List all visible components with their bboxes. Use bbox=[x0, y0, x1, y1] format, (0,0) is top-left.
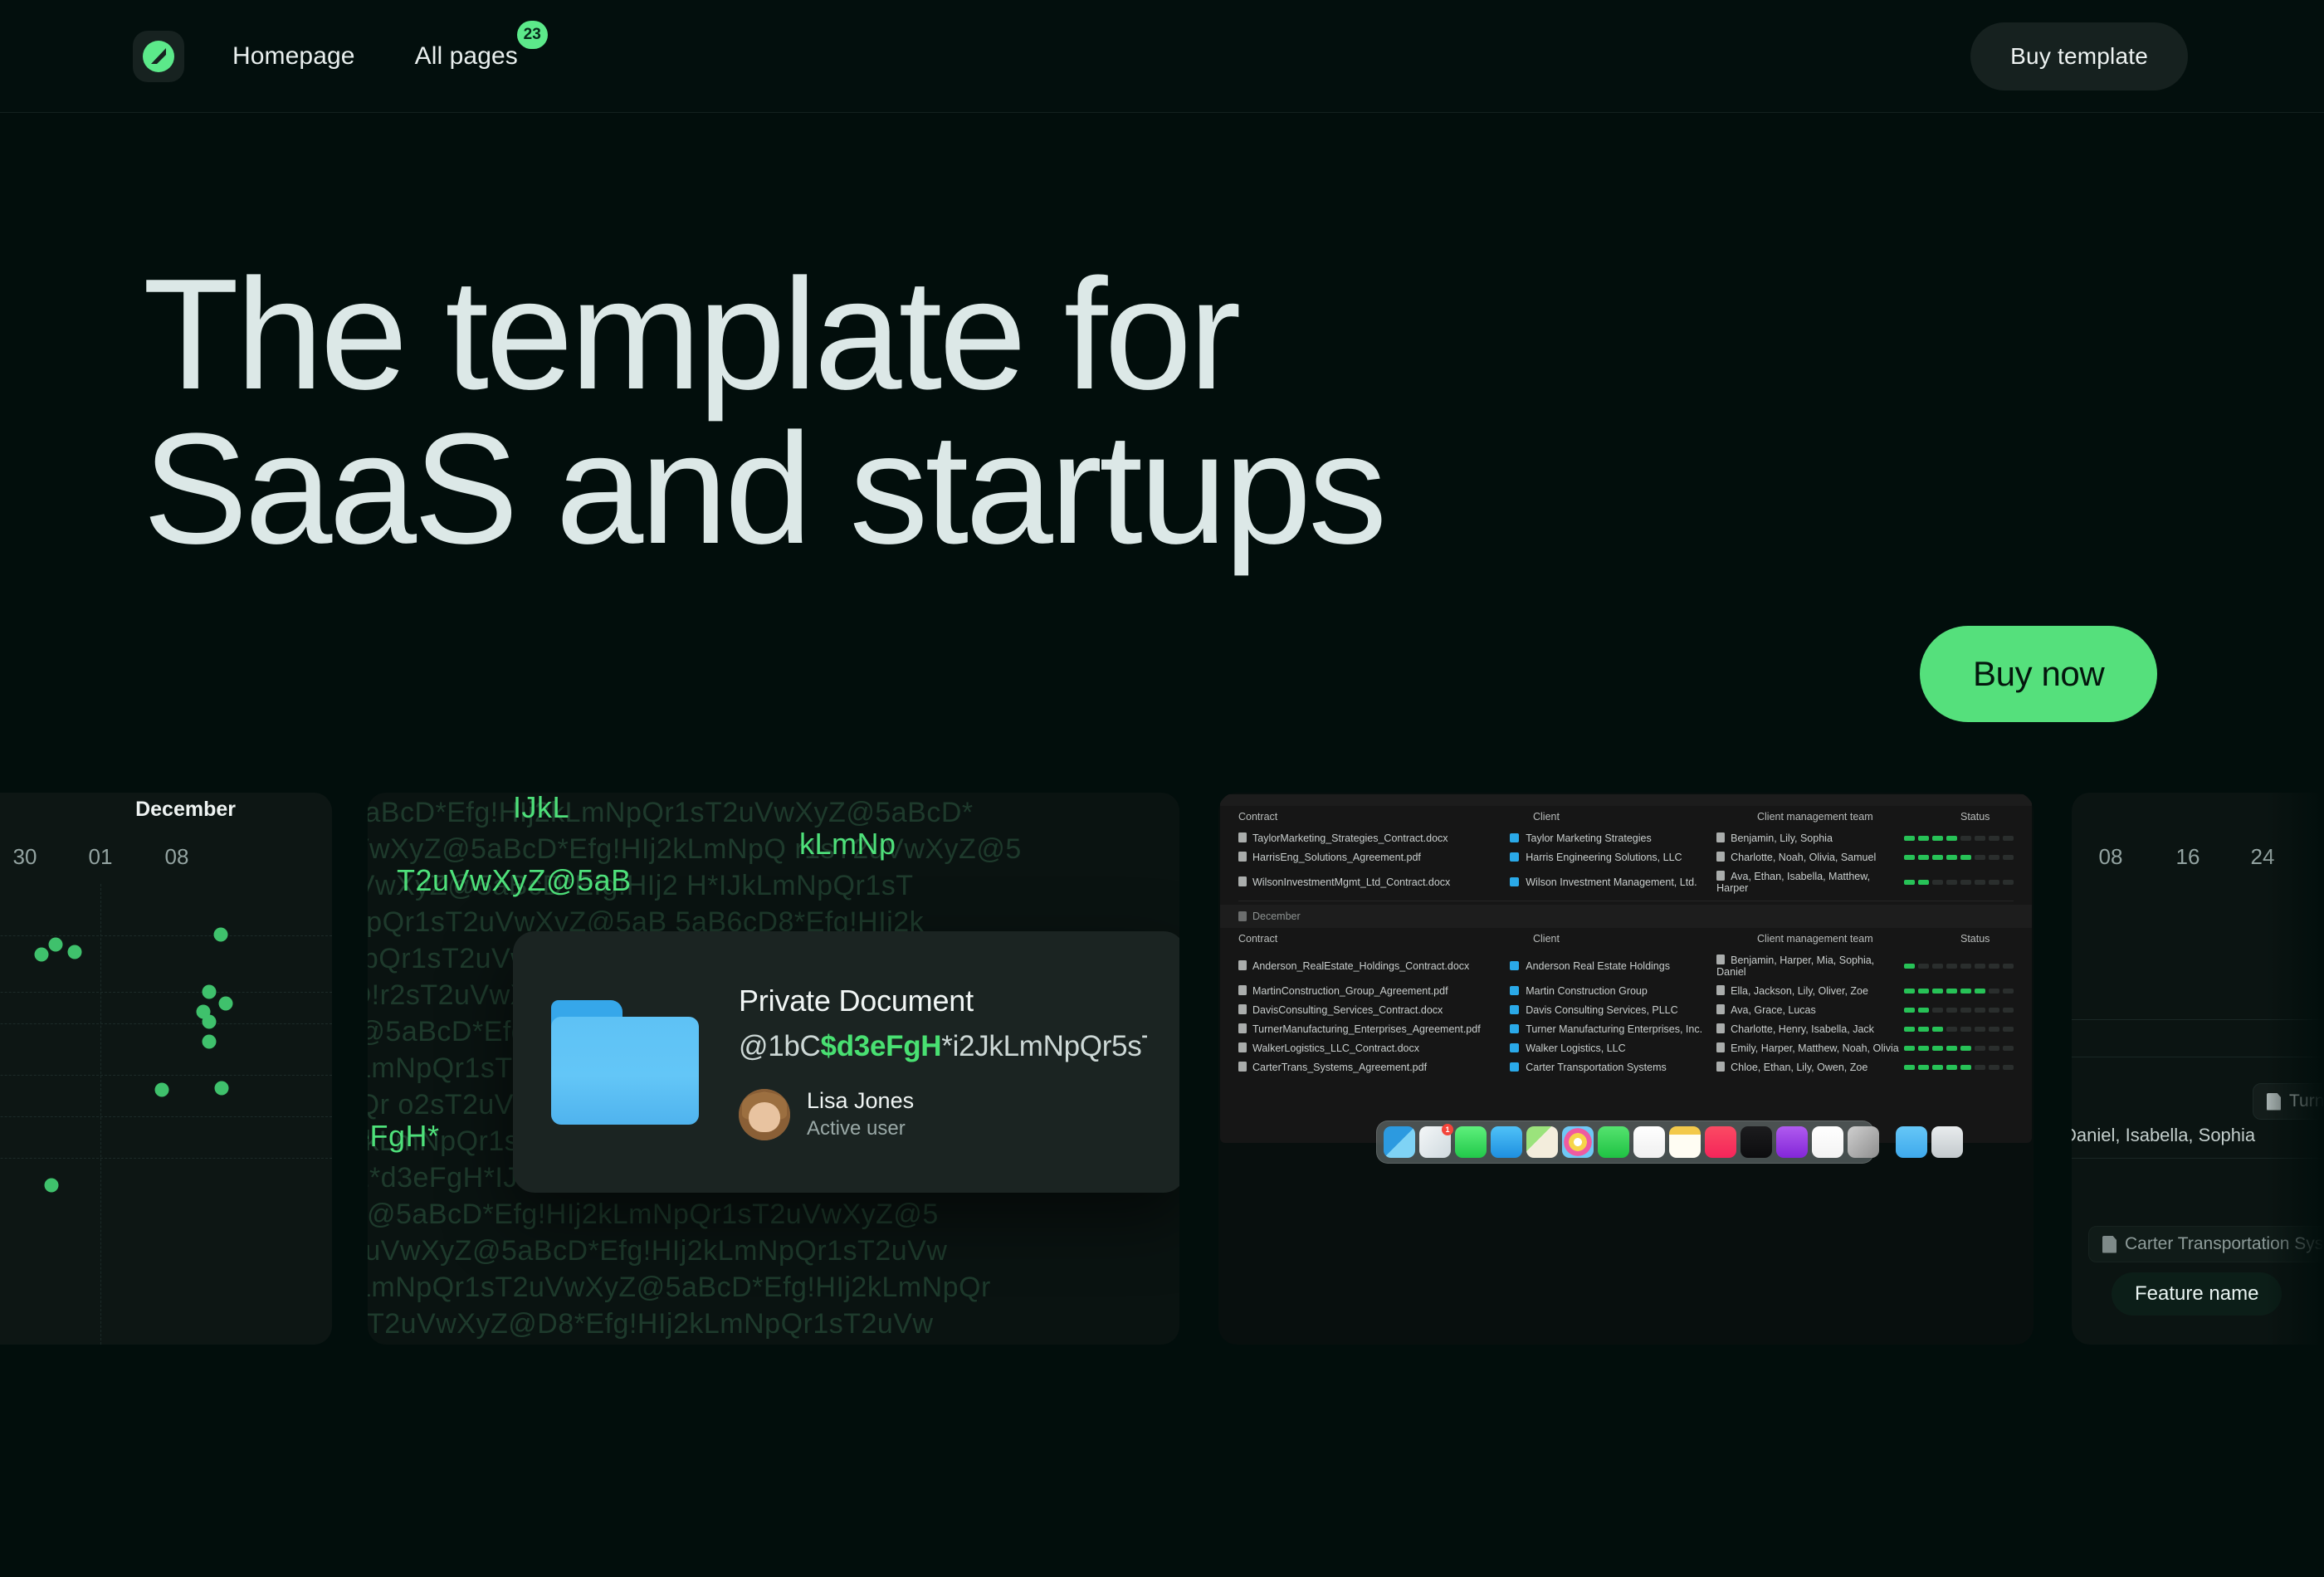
owner-status: Active user bbox=[807, 1117, 914, 1140]
status-bar bbox=[1904, 1046, 1915, 1051]
buy-template-button[interactable]: Buy template bbox=[1970, 22, 2188, 90]
cell-contract: TurnerManufacturing_Enterprises_Agreemen… bbox=[1252, 1023, 1481, 1035]
facetime-icon[interactable] bbox=[1598, 1126, 1629, 1158]
document-small-icon bbox=[2267, 1093, 2281, 1111]
cell-team: Emily, Harper, Matthew, Noah, Olivia bbox=[1731, 1042, 1899, 1054]
person-icon bbox=[1716, 871, 1725, 881]
person-icon bbox=[1716, 954, 1725, 964]
file-icon bbox=[1238, 1042, 1247, 1052]
status-bar bbox=[1989, 964, 1999, 969]
document-small-icon bbox=[2102, 1236, 2116, 1253]
cell-team: Chloe, Ethan, Lily, Owen, Zoe bbox=[1731, 1062, 1867, 1073]
status-bar bbox=[1918, 1065, 1929, 1070]
document-owner: Lisa Jones Active user bbox=[739, 1088, 1147, 1140]
cell-client: Harris Engineering Solutions, LLC bbox=[1526, 852, 1682, 863]
status-bar bbox=[1989, 880, 1999, 885]
status-bar bbox=[1932, 1065, 1943, 1070]
scatter-point bbox=[203, 1015, 217, 1029]
status-bar bbox=[1932, 1046, 1943, 1051]
pill-turner[interactable]: Turner M bbox=[2253, 1083, 2324, 1120]
gridline-h bbox=[0, 1116, 332, 1117]
gridline-h bbox=[0, 935, 332, 936]
column-header: Status bbox=[1960, 933, 2014, 945]
column-header: Contract bbox=[1238, 811, 1533, 823]
x-tick-label: 01 bbox=[89, 844, 113, 870]
client-swatch-icon bbox=[1510, 833, 1519, 842]
matrix-row: XyZ@5aBcD*Efg!HIj2kLmNpQr1sT2uVwXyZ@5aBc… bbox=[368, 794, 1179, 831]
feature-name-tag[interactable]: Feature name bbox=[2112, 1272, 2282, 1316]
file-icon bbox=[1238, 1062, 1247, 1072]
file-icon bbox=[1238, 832, 1247, 842]
table-row[interactable]: DavisConsulting_Services_Contract.docxDa… bbox=[1238, 1000, 2014, 1019]
status-bar bbox=[1960, 1046, 1971, 1051]
status-bar bbox=[1932, 1008, 1943, 1013]
desktop-window: ContractClientClient management teamStat… bbox=[1220, 794, 2032, 1143]
cell-client: Carter Transportation Systems bbox=[1526, 1062, 1667, 1073]
table-row[interactable]: Anderson_RealEstate_Holdings_Contract.do… bbox=[1238, 950, 2014, 981]
showcase-card-desktop[interactable]: ContractClientClient management teamStat… bbox=[1218, 793, 2033, 1345]
status-bar bbox=[1918, 964, 1929, 969]
status-bar bbox=[1918, 880, 1929, 885]
status-bar bbox=[1932, 880, 1943, 885]
messages-icon[interactable] bbox=[1455, 1126, 1487, 1158]
status-bar bbox=[1918, 1008, 1929, 1013]
file-icon bbox=[1238, 985, 1247, 995]
column-header: Client bbox=[1533, 933, 1757, 945]
client-swatch-icon bbox=[1510, 961, 1519, 970]
scatter-point bbox=[35, 948, 49, 962]
status-bar bbox=[1989, 989, 1999, 994]
cell-contract: WalkerLogistics_LLC_Contract.docx bbox=[1252, 1042, 1419, 1054]
page-title: The template for SaaS and startups bbox=[143, 257, 1384, 566]
mail-icon[interactable] bbox=[1491, 1126, 1522, 1158]
table-header-row: ContractClientClient management teamStat… bbox=[1238, 928, 2014, 950]
scatter-point bbox=[203, 985, 217, 999]
cell-contract: WilsonInvestmentMgmt_Ltd_Contract.docx bbox=[1252, 876, 1450, 888]
status-bar bbox=[1960, 1008, 1971, 1013]
status-bar bbox=[1946, 1008, 1957, 1013]
status-bar bbox=[1989, 1027, 1999, 1032]
pill-carter[interactable]: Carter Transportation Systems bbox=[2088, 1226, 2324, 1262]
team-names-label: Daniel, Isabella, Sophia bbox=[2072, 1125, 2255, 1146]
table-row[interactable]: WalkerLogistics_LLC_Contract.docxWalker … bbox=[1238, 1038, 2014, 1057]
status-bar bbox=[1975, 836, 1985, 841]
table-row[interactable]: CarterTrans_Systems_Agreement.pdfCarter … bbox=[1238, 1057, 2014, 1077]
cell-contract: MartinConstruction_Group_Agreement.pdf bbox=[1252, 985, 1448, 997]
table-row[interactable]: MartinConstruction_Group_Agreement.pdfMa… bbox=[1238, 981, 2014, 1000]
cell-client: Taylor Marketing Strategies bbox=[1526, 832, 1651, 844]
cell-contract: CarterTrans_Systems_Agreement.pdf bbox=[1252, 1062, 1427, 1073]
cell-team: Ava, Grace, Lucas bbox=[1731, 1004, 1816, 1016]
status-bar bbox=[2003, 964, 2014, 969]
cell-client: Walker Logistics, LLC bbox=[1526, 1042, 1625, 1054]
cell-client: Wilson Investment Management, Ltd. bbox=[1526, 876, 1697, 888]
cell-client: Martin Construction Group bbox=[1526, 985, 1648, 997]
app-store-icon[interactable] bbox=[1848, 1126, 1879, 1158]
status-bar bbox=[1946, 1065, 1957, 1070]
status-bar bbox=[1918, 1046, 1929, 1051]
cell-contract: Anderson_RealEstate_Holdings_Contract.do… bbox=[1252, 960, 1469, 972]
gridline-v bbox=[100, 884, 101, 1345]
matrix-row: JkLmNpQr1sT2uVwXyZ@5aBcD*Efg!HIj2kLmNpQr… bbox=[368, 1342, 1179, 1345]
brand-logo-icon[interactable] bbox=[133, 31, 184, 82]
status-bar bbox=[1989, 1046, 1999, 1051]
status-bar bbox=[2003, 989, 2014, 994]
column-header: Client bbox=[1533, 811, 1757, 823]
x-tick-label: 08 bbox=[2099, 844, 2123, 870]
table-group-december: December bbox=[1220, 905, 2032, 928]
matrix-highlight: IJkL bbox=[513, 793, 569, 826]
status-bar bbox=[1975, 1046, 1985, 1051]
document-hash-highlight: $d3eFgH bbox=[821, 1030, 942, 1062]
status-bar bbox=[1960, 836, 1971, 841]
status-bar bbox=[1904, 836, 1915, 841]
macos-dock[interactable]: 1 bbox=[1376, 1120, 1874, 1164]
showcase-card-chart-right[interactable]: 0816243 Turner M Daniel, Isabella, Sophi… bbox=[2072, 793, 2324, 1345]
showcase-card-chart-left[interactable]: December 1624300108 bbox=[0, 793, 332, 1345]
reminders-icon[interactable] bbox=[1633, 1126, 1665, 1158]
cell-client: Turner Manufacturing Enterprises, Inc. bbox=[1526, 1023, 1702, 1035]
file-icon bbox=[1238, 1004, 1247, 1014]
cell-client: Davis Consulting Services, PLLC bbox=[1526, 1004, 1677, 1016]
matrix-row: Qr1sT2uVwXyZ@5aBcD*Efg!HIj2kLmNpQr1sT2uV… bbox=[368, 1233, 1179, 1269]
chart-month-label: December bbox=[135, 798, 236, 822]
document-info: Private Document @1bC$d3eFgH*i2JkLmNpQr5… bbox=[739, 984, 1147, 1140]
status-bar bbox=[2003, 1008, 2014, 1013]
client-swatch-icon bbox=[1510, 1043, 1519, 1052]
table-row[interactable]: TurnerManufacturing_Enterprises_Agreemen… bbox=[1238, 1019, 2014, 1038]
nav-links: Homepage All pages 23 bbox=[232, 34, 518, 79]
pill-carter-label: Carter Transportation Systems bbox=[2125, 1234, 2324, 1254]
status-bar bbox=[1989, 1008, 1999, 1013]
cell-client: Anderson Real Estate Holdings bbox=[1526, 960, 1670, 972]
matrix-row: mNpQr1sT2uVwXyZ@D8*Efg!HIj2kLmNpQr1sT2uV… bbox=[368, 1306, 1179, 1342]
client-swatch-icon bbox=[1510, 1005, 1519, 1014]
gridline-h bbox=[0, 1158, 332, 1159]
scatter-point bbox=[219, 997, 233, 1011]
trash-icon[interactable] bbox=[1931, 1126, 1963, 1158]
table-row[interactable]: WilsonInvestmentMgmt_Ltd_Contract.docxWi… bbox=[1238, 867, 2014, 897]
status-bar bbox=[1975, 855, 1985, 860]
status-bar bbox=[1918, 855, 1929, 860]
matrix-highlight: eFgH* bbox=[368, 1118, 440, 1155]
nav-right-group: Buy template bbox=[1970, 22, 2324, 90]
person-icon bbox=[1716, 985, 1725, 995]
status-bar bbox=[1989, 836, 1999, 841]
status-bar bbox=[1918, 836, 1929, 841]
scatter-point bbox=[215, 1081, 229, 1096]
matrix-highlight: T2uVwXyZ@5aB bbox=[397, 862, 632, 899]
showcase-card-private-document[interactable]: XyZ@5aBcD*Efg!HIj2kLmNpQr1sT2uVwXyZ@5aBc… bbox=[368, 793, 1179, 1345]
column-header: Status bbox=[1960, 811, 2014, 823]
scatter-point bbox=[214, 928, 228, 942]
document-hash-prefix: @1bC bbox=[739, 1030, 821, 1062]
cell-team: Ava, Ethan, Isabella, Matthew, Harper bbox=[1716, 871, 1870, 894]
cell-contract: DavisConsulting_Services_Contract.docx bbox=[1252, 1004, 1443, 1016]
all-pages-count-badge: 23 bbox=[517, 21, 548, 49]
x-tick-label: 30 bbox=[13, 844, 37, 870]
cell-status bbox=[1904, 964, 2014, 969]
status-bar bbox=[1918, 1027, 1929, 1032]
gridline-h bbox=[0, 992, 332, 993]
status-bar bbox=[1975, 1008, 1985, 1013]
status-bar bbox=[1932, 836, 1943, 841]
cell-status bbox=[1904, 1065, 2014, 1070]
scatter-point bbox=[49, 938, 63, 952]
folder-small-icon bbox=[1238, 911, 1247, 921]
person-icon bbox=[1716, 1062, 1725, 1072]
cell-team: Charlotte, Noah, Olivia, Samuel bbox=[1731, 852, 1876, 863]
status-bar bbox=[1960, 964, 1971, 969]
cell-team: Charlotte, Henry, Isabella, Jack bbox=[1731, 1023, 1874, 1035]
status-bar bbox=[1960, 1027, 1971, 1032]
x-tick-label: 16 bbox=[2176, 844, 2200, 870]
status-bar bbox=[2003, 1065, 2014, 1070]
client-swatch-icon bbox=[1510, 1024, 1519, 1033]
status-bar bbox=[1975, 989, 1985, 994]
status-bar bbox=[2003, 1046, 2014, 1051]
gridline-h bbox=[0, 1075, 332, 1076]
x-tick-label: 08 bbox=[165, 844, 189, 870]
status-bar bbox=[1904, 1065, 1915, 1070]
status-bar bbox=[1960, 855, 1971, 860]
status-bar bbox=[1946, 989, 1957, 994]
status-bar bbox=[1904, 1027, 1915, 1032]
finder-icon[interactable] bbox=[1384, 1126, 1415, 1158]
client-swatch-icon bbox=[1510, 986, 1519, 995]
client-swatch-icon bbox=[1510, 1062, 1519, 1072]
file-icon bbox=[1238, 852, 1247, 862]
status-bar bbox=[2003, 880, 2014, 885]
scatter-point bbox=[68, 945, 82, 959]
window-titlebar bbox=[1220, 794, 2032, 806]
matrix-row: j2kLmNpQr1sT2uVwXyZ@5aBcD*Efg!HIj2kLmNpQ… bbox=[368, 1269, 1179, 1306]
cell-status bbox=[1904, 880, 2014, 885]
status-bar bbox=[1932, 964, 1943, 969]
top-navigation-bar: Homepage All pages 23 Buy template bbox=[0, 0, 2324, 113]
cell-team: Benjamin, Harper, Mia, Sophia, Daniel bbox=[1716, 954, 1874, 978]
private-document-card[interactable]: Private Document @1bC$d3eFgH*i2JkLmNpQr5… bbox=[513, 931, 1179, 1193]
status-bar bbox=[1946, 964, 1957, 969]
status-bar bbox=[1904, 989, 1915, 994]
client-swatch-icon bbox=[1510, 877, 1519, 886]
person-icon bbox=[1716, 852, 1725, 862]
status-bar bbox=[1932, 1027, 1943, 1032]
x-tick-label: 24 bbox=[2251, 844, 2275, 870]
client-swatch-icon bbox=[1510, 852, 1519, 862]
status-bar bbox=[1960, 880, 1971, 885]
cell-status bbox=[1904, 1046, 2014, 1051]
hero-section: The template for SaaS and startups Buy n… bbox=[0, 113, 2324, 777]
cell-contract: TaylorMarketing_Strategies_Contract.docx bbox=[1252, 832, 1448, 844]
status-bar bbox=[1975, 964, 1985, 969]
contracts-table-december: ContractClientClient management teamStat… bbox=[1220, 928, 2032, 1077]
table-row[interactable]: TaylorMarketing_Strategies_Contract.docx… bbox=[1238, 828, 2014, 847]
status-bar bbox=[1975, 1065, 1985, 1070]
document-hash: @1bC$d3eFgH*i2JkLmNpQr5sT7uVw bbox=[739, 1030, 1147, 1063]
status-bar bbox=[1946, 855, 1957, 860]
showcase-card-strip: December 1624300108 XyZ@5aBcD*Efg!HIj2kL… bbox=[0, 793, 2324, 1345]
status-bar bbox=[1932, 855, 1943, 860]
cell-status bbox=[1904, 1027, 2014, 1032]
status-bar bbox=[1960, 989, 1971, 994]
folder-icon bbox=[551, 1000, 699, 1125]
cell-status bbox=[1904, 836, 2014, 841]
person-icon bbox=[1716, 832, 1725, 842]
table-header-row: ContractClientClient management teamStat… bbox=[1238, 806, 2014, 828]
status-bar bbox=[1932, 989, 1943, 994]
music-icon[interactable] bbox=[1705, 1126, 1736, 1158]
photos-icon[interactable] bbox=[1562, 1126, 1594, 1158]
avatar bbox=[739, 1089, 790, 1140]
cell-contract: HarrisEng_Solutions_Agreement.pdf bbox=[1252, 852, 1421, 863]
gridline-h bbox=[0, 1023, 332, 1024]
column-header: Client management team bbox=[1757, 811, 1960, 823]
appletv-icon[interactable] bbox=[1741, 1126, 1772, 1158]
chart-x-axis: 1624300108 bbox=[0, 844, 332, 877]
status-bar bbox=[2003, 855, 2014, 860]
status-bar bbox=[1904, 1008, 1915, 1013]
owner-name: Lisa Jones bbox=[807, 1088, 914, 1114]
status-bar bbox=[1946, 1046, 1957, 1051]
nav-left-group: Homepage All pages 23 bbox=[0, 31, 518, 82]
file-icon bbox=[1238, 876, 1247, 886]
dock-badge: 1 bbox=[1442, 1124, 1453, 1135]
status-bar bbox=[1946, 880, 1957, 885]
status-bar bbox=[1989, 1065, 1999, 1070]
status-bar bbox=[2003, 1027, 2014, 1032]
file-icon bbox=[1238, 1023, 1247, 1033]
person-icon bbox=[1716, 1042, 1725, 1052]
cell-status bbox=[1904, 989, 2014, 994]
cell-team: Ella, Jackson, Lily, Oliver, Zoe bbox=[1731, 985, 1868, 997]
status-bar bbox=[1918, 989, 1929, 994]
status-bar bbox=[1975, 1027, 1985, 1032]
buy-now-button[interactable]: Buy now bbox=[1920, 626, 2157, 722]
document-title: Private Document bbox=[739, 984, 1147, 1018]
nav-link-all-pages[interactable]: All pages 23 bbox=[415, 34, 518, 79]
status-bar bbox=[1904, 964, 1915, 969]
notes-icon[interactable] bbox=[1669, 1126, 1701, 1158]
maps-icon[interactable] bbox=[1526, 1126, 1558, 1158]
nav-link-homepage-label: Homepage bbox=[232, 42, 355, 70]
status-bar bbox=[1946, 1027, 1957, 1032]
table-divider bbox=[1238, 901, 2014, 901]
status-bar bbox=[1989, 855, 1999, 860]
person-icon bbox=[1716, 1004, 1725, 1014]
file-icon bbox=[1238, 960, 1247, 970]
table-row[interactable]: HarrisEng_Solutions_Agreement.pdfHarris … bbox=[1238, 847, 2014, 867]
right-chart-x-axis: 0816243 bbox=[2072, 844, 2324, 877]
pill-turner-label: Turner M bbox=[2289, 1091, 2324, 1111]
status-bar bbox=[1960, 1065, 1971, 1070]
status-bar bbox=[1904, 880, 1915, 885]
news-icon[interactable] bbox=[1812, 1126, 1843, 1158]
matrix-highlight: kLmNp bbox=[799, 826, 896, 862]
nav-link-all-pages-label: All pages bbox=[415, 42, 518, 70]
status-bar bbox=[2003, 836, 2014, 841]
status-bar bbox=[1975, 880, 1985, 885]
scatter-point bbox=[45, 1179, 59, 1193]
folder-icon[interactable] bbox=[1896, 1126, 1927, 1158]
document-hash-suffix: *i2JkLmNpQr5sT7uVw bbox=[941, 1030, 1147, 1062]
status-bar bbox=[1904, 855, 1915, 860]
column-header: Contract bbox=[1238, 933, 1533, 945]
scatter-point bbox=[155, 1083, 169, 1097]
column-header: Client management team bbox=[1757, 933, 1960, 945]
nav-link-homepage[interactable]: Homepage bbox=[232, 34, 355, 79]
podcasts-icon[interactable] bbox=[1776, 1126, 1808, 1158]
matrix-row: 2uVwXyZ@5aBcD*Efg!HIj2kLmNpQr1sT2uVwXyZ@… bbox=[368, 1196, 1179, 1233]
cell-status bbox=[1904, 1008, 2014, 1013]
scatter-point bbox=[203, 1035, 217, 1049]
contracts-table-november: ContractClientClient management teamStat… bbox=[1220, 806, 2032, 901]
table-group-december-label: December bbox=[1252, 911, 1301, 922]
person-icon bbox=[1716, 1023, 1725, 1033]
cell-team: Benjamin, Lily, Sophia bbox=[1731, 832, 1833, 844]
status-bar bbox=[1946, 836, 1957, 841]
safari-icon[interactable]: 1 bbox=[1419, 1126, 1451, 1158]
cell-status bbox=[1904, 855, 2014, 860]
